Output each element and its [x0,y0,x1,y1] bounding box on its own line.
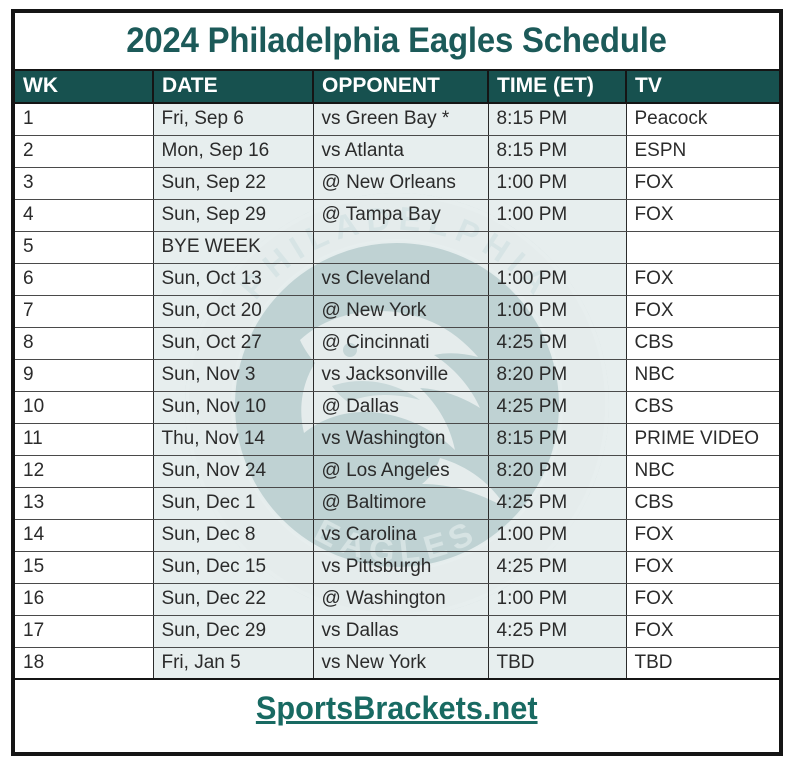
schedule-sheet: PHILADELPHIA EAGLES 2024 Philadelphia Ea… [11,9,783,756]
table-row[interactable]: 14Sun, Dec 8vs Carolina1:00 PMFOX [15,519,779,551]
cell-opponent: @ Tampa Bay [313,199,488,231]
table-row[interactable]: 7Sun, Oct 20@ New York1:00 PMFOX [15,295,779,327]
cell-opponent: @ Los Angeles [313,455,488,487]
cell-tv: FOX [626,551,779,583]
cell-opponent: vs New York [313,647,488,679]
footer-bar: SportsBrackets.net [15,680,779,736]
cell-opponent: vs Carolina [313,519,488,551]
cell-time [488,231,626,263]
cell-week: 8 [15,327,153,359]
cell-opponent: @ Washington [313,583,488,615]
cell-week: 5 [15,231,153,263]
cell-tv: FOX [626,615,779,647]
cell-tv: ESPN [626,135,779,167]
cell-week: 17 [15,615,153,647]
cell-week: 4 [15,199,153,231]
cell-tv: FOX [626,263,779,295]
table-row[interactable]: 11Thu, Nov 14vs Washington8:15 PMPRIME V… [15,423,779,455]
table-row[interactable]: 15Sun, Dec 15vs Pittsburgh4:25 PMFOX [15,551,779,583]
column-header-date[interactable]: DATE [153,71,313,103]
cell-tv: FOX [626,295,779,327]
cell-tv: FOX [626,167,779,199]
cell-date: Fri, Jan 5 [153,647,313,679]
cell-tv: Peacock [626,103,779,135]
cell-time: 8:20 PM [488,359,626,391]
cell-date: Sun, Nov 3 [153,359,313,391]
table-row[interactable]: 2Mon, Sep 16vs Atlanta8:15 PMESPN [15,135,779,167]
cell-tv: CBS [626,487,779,519]
cell-date: Sun, Nov 10 [153,391,313,423]
cell-opponent: vs Washington [313,423,488,455]
cell-tv: FOX [626,519,779,551]
cell-week: 9 [15,359,153,391]
column-header-opponent[interactable]: OPPONENT [313,71,488,103]
table-row[interactable]: 10Sun, Nov 10@ Dallas4:25 PMCBS [15,391,779,423]
cell-week: 2 [15,135,153,167]
cell-week: 3 [15,167,153,199]
cell-opponent: @ Cincinnati [313,327,488,359]
table-header-row: WK DATE OPPONENT TIME (ET) TV [15,71,779,103]
cell-time: 1:00 PM [488,263,626,295]
cell-tv: NBC [626,359,779,391]
table-row[interactable]: 8Sun, Oct 27@ Cincinnati4:25 PMCBS [15,327,779,359]
cell-week: 11 [15,423,153,455]
cell-opponent: vs Dallas [313,615,488,647]
cell-time: 4:25 PM [488,551,626,583]
table-row[interactable]: 17Sun, Dec 29vs Dallas4:25 PMFOX [15,615,779,647]
cell-time: 4:25 PM [488,615,626,647]
column-header-wk[interactable]: WK [15,71,153,103]
cell-date: Sun, Sep 22 [153,167,313,199]
cell-tv: FOX [626,583,779,615]
cell-opponent: vs Atlanta [313,135,488,167]
cell-time: 4:25 PM [488,391,626,423]
cell-week: 18 [15,647,153,679]
cell-time: 1:00 PM [488,167,626,199]
table-row[interactable]: 18Fri, Jan 5vs New YorkTBDTBD [15,647,779,679]
cell-date: Sun, Oct 13 [153,263,313,295]
cell-week: 13 [15,487,153,519]
table-row[interactable]: 13Sun, Dec 1@ Baltimore4:25 PMCBS [15,487,779,519]
cell-opponent: @ Dallas [313,391,488,423]
cell-time: 8:15 PM [488,135,626,167]
table-row[interactable]: 16Sun, Dec 22@ Washington1:00 PMFOX [15,583,779,615]
cell-week: 15 [15,551,153,583]
cell-time: 8:15 PM [488,423,626,455]
column-header-time[interactable]: TIME (ET) [488,71,626,103]
cell-opponent: vs Jacksonville [313,359,488,391]
cell-tv: FOX [626,199,779,231]
cell-time: 1:00 PM [488,295,626,327]
cell-week: 14 [15,519,153,551]
cell-week: 10 [15,391,153,423]
table-row[interactable]: 9Sun, Nov 3vs Jacksonville8:20 PMNBC [15,359,779,391]
cell-week: 7 [15,295,153,327]
table-row[interactable]: 12Sun, Nov 24@ Los Angeles8:20 PMNBC [15,455,779,487]
cell-date: Sun, Dec 8 [153,519,313,551]
cell-date: Sun, Dec 29 [153,615,313,647]
sportsbrackets-link[interactable]: SportsBrackets.net [256,690,538,727]
cell-date: BYE WEEK [153,231,313,263]
cell-time: TBD [488,647,626,679]
cell-date: Thu, Nov 14 [153,423,313,455]
cell-time: 1:00 PM [488,583,626,615]
cell-date: Sun, Oct 20 [153,295,313,327]
cell-tv: TBD [626,647,779,679]
cell-time: 8:15 PM [488,103,626,135]
cell-tv: CBS [626,327,779,359]
cell-tv: PRIME VIDEO [626,423,779,455]
cell-week: 16 [15,583,153,615]
cell-date: Sun, Oct 27 [153,327,313,359]
cell-week: 1 [15,103,153,135]
cell-date: Sun, Dec 1 [153,487,313,519]
cell-date: Sun, Sep 29 [153,199,313,231]
cell-date: Fri, Sep 6 [153,103,313,135]
cell-time: 1:00 PM [488,519,626,551]
schedule-rows: 1Fri, Sep 6vs Green Bay *8:15 PMPeacock2… [15,103,779,679]
cell-opponent: vs Green Bay * [313,103,488,135]
cell-tv [626,231,779,263]
cell-opponent [313,231,488,263]
cell-time: 4:25 PM [488,327,626,359]
cell-opponent: vs Cleveland [313,263,488,295]
cell-opponent: @ New Orleans [313,167,488,199]
cell-time: 4:25 PM [488,487,626,519]
cell-date: Mon, Sep 16 [153,135,313,167]
cell-opponent: @ New York [313,295,488,327]
table-row[interactable]: 6Sun, Oct 13vs Cleveland1:00 PMFOX [15,263,779,295]
cell-tv: NBC [626,455,779,487]
cell-week: 12 [15,455,153,487]
cell-opponent: @ Baltimore [313,487,488,519]
table-row[interactable]: 5BYE WEEK [15,231,779,263]
cell-tv: CBS [626,391,779,423]
page-title: 2024 Philadelphia Eagles Schedule [127,21,668,61]
cell-date: Sun, Dec 15 [153,551,313,583]
cell-opponent: vs Pittsburgh [313,551,488,583]
cell-time: 8:20 PM [488,455,626,487]
title-bar: 2024 Philadelphia Eagles Schedule [15,13,779,71]
cell-date: Sun, Dec 22 [153,583,313,615]
cell-week: 6 [15,263,153,295]
column-header-tv[interactable]: TV [626,71,779,103]
cell-date: Sun, Nov 24 [153,455,313,487]
schedule-page: PHILADELPHIA EAGLES 2024 Philadelphia Ea… [0,0,799,768]
table-row[interactable]: 4Sun, Sep 29@ Tampa Bay1:00 PMFOX [15,199,779,231]
cell-time: 1:00 PM [488,199,626,231]
table-row[interactable]: 1Fri, Sep 6vs Green Bay *8:15 PMPeacock [15,103,779,135]
schedule-table: WK DATE OPPONENT TIME (ET) TV 1Fri, Sep … [15,71,779,680]
table-row[interactable]: 3Sun, Sep 22@ New Orleans1:00 PMFOX [15,167,779,199]
